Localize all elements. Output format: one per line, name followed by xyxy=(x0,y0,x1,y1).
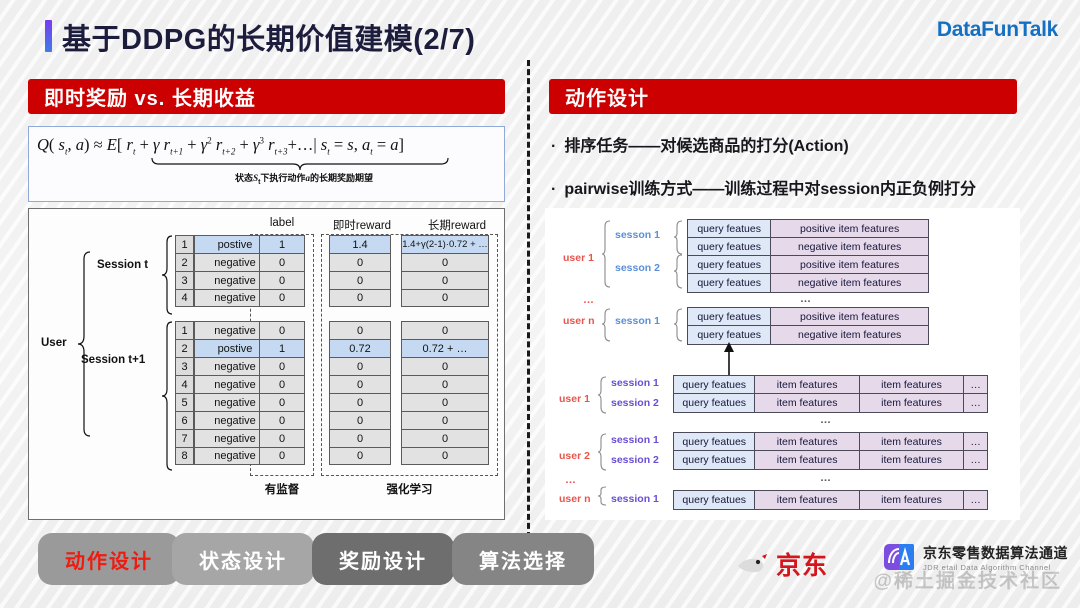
long-reward-value: 0 xyxy=(401,271,489,289)
item-feature-cell: positive item features xyxy=(771,220,928,238)
table-row: query featues item features item feature… xyxy=(674,433,987,451)
session-t-label: Session t xyxy=(97,259,148,271)
table-row: query featues item features item feature… xyxy=(674,451,987,469)
item-feature-cell: negative item features xyxy=(771,238,928,256)
user-label: User xyxy=(41,337,67,349)
item-feature-cell: item features xyxy=(755,433,859,451)
long-reward-value: 0 xyxy=(401,357,489,375)
pairwise-session-1-brace xyxy=(673,220,683,255)
session-user-1-label: user 1 xyxy=(559,393,590,405)
row-index: 4 xyxy=(175,375,194,393)
jd-logo-text: 京东 xyxy=(776,546,828,582)
reward-value: 0 xyxy=(329,357,391,375)
long-reward-value: 0 xyxy=(401,447,489,465)
slide-header: 基于DDPG的长期价值建模(2/7) DataFunTalk xyxy=(0,0,1080,62)
item-feature-cell: item features xyxy=(755,376,859,394)
reward-value: 0 xyxy=(329,289,391,307)
watermark: @稀土掘金技术社区 xyxy=(873,566,1062,593)
pairwise-user-1-label: user 1 xyxy=(563,252,594,264)
session-t1-long-reward-column: 0 0.72 + … 0 0 0 0 0 0 xyxy=(401,321,489,465)
row-index: 1 xyxy=(175,235,194,253)
label-value: 0 xyxy=(259,411,305,429)
session-label: session 2 xyxy=(611,397,659,409)
reward-value: 0 xyxy=(329,271,391,289)
session-label: session 1 xyxy=(611,493,659,505)
table-row: query featues positive item features xyxy=(688,308,928,326)
row-index: 8 xyxy=(175,447,194,465)
query-feature-cell: query featues xyxy=(688,308,771,326)
footer-reinforcement: 强化学习 xyxy=(321,481,498,497)
session-user-1-brace xyxy=(597,376,607,414)
item-feature-cell: item features xyxy=(755,451,859,469)
label-value: 1 xyxy=(259,235,305,253)
pairwise-user-n-brace xyxy=(601,308,611,342)
long-reward-value: 0 xyxy=(401,253,489,271)
formula-underbrace xyxy=(151,157,449,171)
row-index: 6 xyxy=(175,411,194,429)
reward-value: 0 xyxy=(329,429,391,447)
pairwise-user-n-session-label: sesson 1 xyxy=(615,315,660,327)
tab-algorithm-choice[interactable]: 算法选择 xyxy=(452,533,594,585)
session-user-n-brace xyxy=(597,486,607,506)
bullet-dot-icon: · xyxy=(551,181,556,198)
item-feature-cell: item features xyxy=(860,376,964,394)
item-feature-cell: negative item features xyxy=(771,274,928,292)
query-feature-cell: query featues xyxy=(674,451,755,469)
table-row: query featues item features item feature… xyxy=(674,376,987,394)
query-feature-cell: query featues xyxy=(688,274,771,292)
panel-divider xyxy=(527,60,530,538)
row-index: 5 xyxy=(175,393,194,411)
pairwise-session-1-label: sesson 1 xyxy=(615,229,660,241)
table-row: query featues negative item features xyxy=(688,238,928,256)
label-value: 0 xyxy=(259,393,305,411)
item-feature-cell: item features xyxy=(860,433,964,451)
session-t-brace xyxy=(161,235,173,315)
query-feature-cell: query featues xyxy=(688,256,771,274)
session-user-2-label: user 2 xyxy=(559,450,590,462)
item-feature-cell: item features xyxy=(860,451,964,469)
session-t1-label: Session t+1 xyxy=(81,354,145,366)
query-feature-cell: query featues xyxy=(674,433,755,451)
user-brace xyxy=(77,251,91,437)
tab-action-design[interactable]: 动作设计 xyxy=(38,533,180,585)
connector-arrow-icon xyxy=(722,342,736,378)
session-t1-immediate-reward-column: 0 0.72 0 0 0 0 0 0 xyxy=(329,321,391,465)
table-row: query featues positive item features xyxy=(688,220,928,238)
q-value-formula: Q( st, a) ≈ E[ rt + γ rt+1 + γ2 rt+2 + γ… xyxy=(37,135,498,156)
page-title: 基于DDPG的长期价值建模(2/7) xyxy=(62,16,475,58)
session-table-user-1: query featues item features item feature… xyxy=(673,375,988,413)
query-feature-cell: query featues xyxy=(688,238,771,256)
session-label: session 1 xyxy=(611,434,659,446)
item-feature-cell: positive item features xyxy=(771,308,928,326)
session-table-user-2: query featues item features item feature… xyxy=(673,432,988,470)
query-feature-cell: query featues xyxy=(674,491,755,509)
item-feature-cell: positive item features xyxy=(771,256,928,274)
session-t1-label-value-column: 0 1 0 0 0 0 0 0 xyxy=(259,321,305,465)
session-t-long-reward-column: 1.4+γ(2-1)·0.72 + … 0 0 0 xyxy=(401,235,489,307)
row-index: 3 xyxy=(175,271,194,289)
pairwise-session-2-brace xyxy=(673,254,683,289)
label-value: 0 xyxy=(259,447,305,465)
right-section-header: 动作设计 xyxy=(549,79,1017,114)
pairwise-table-user-n: query featues positive item features que… xyxy=(687,307,929,345)
pairwise-user-n-label: user n xyxy=(563,315,595,327)
item-feature-cell: item features xyxy=(860,394,964,412)
label-value: 0 xyxy=(259,357,305,375)
row-index: 4 xyxy=(175,289,194,307)
reward-value: 0.72 xyxy=(329,339,391,357)
row-index: 2 xyxy=(175,339,194,357)
footer-supervised: 有监督 xyxy=(250,481,314,497)
column-header-long-reward: 长期reward xyxy=(407,217,507,233)
pairwise-user-ellipsis: … xyxy=(583,294,595,306)
session-diagram-ellipsis-1: … xyxy=(820,414,832,426)
item-feature-cell: item features xyxy=(755,394,859,412)
label-value: 0 xyxy=(259,253,305,271)
session-t-immediate-reward-column: 1.4 0 0 0 xyxy=(329,235,391,307)
table-row: query featues item features item feature… xyxy=(674,394,987,412)
label-value: 0 xyxy=(259,321,305,339)
bullet-dot-icon: · xyxy=(551,138,556,155)
long-reward-value: 0 xyxy=(401,429,489,447)
bullet-item-1: ·排序任务——对候选商品的打分(Action) xyxy=(551,132,849,156)
bullet-text: 排序任务——对候选商品的打分(Action) xyxy=(564,138,848,155)
label-value: 1 xyxy=(259,339,305,357)
jd-dog-icon xyxy=(736,551,770,577)
label-value: 0 xyxy=(259,429,305,447)
query-feature-cell: query featues xyxy=(674,394,755,412)
session-table-user-n: query featues item features item feature… xyxy=(673,490,988,510)
item-feature-cell: item features xyxy=(755,491,859,509)
right-diagram-panel: user 1 sesson 1 sesson 2 query featues p… xyxy=(545,208,1020,520)
bullet-item-2: ·pairwise训练方式——训练过程中对session内正负例打分 xyxy=(551,175,976,199)
long-reward-value: 0.72 + … xyxy=(401,339,489,357)
column-header-label: label xyxy=(247,217,317,229)
table-row: query featues negative item features xyxy=(688,274,928,292)
reward-value: 0 xyxy=(329,253,391,271)
pairwise-table-ellipsis: … xyxy=(800,293,812,305)
reward-value: 0 xyxy=(329,411,391,429)
pairwise-user-1-brace xyxy=(601,220,611,288)
session-label: session 2 xyxy=(611,454,659,466)
session-t1-brace xyxy=(161,321,173,471)
long-reward-value: 1.4+γ(2-1)·0.72 + … xyxy=(401,235,489,253)
tab-state-design[interactable]: 状态设计 xyxy=(172,533,314,585)
label-value: 0 xyxy=(259,271,305,289)
session-user-n-label: user n xyxy=(559,493,591,505)
item-feature-ellipsis-cell: … xyxy=(964,394,987,412)
long-reward-value: 0 xyxy=(401,375,489,393)
pairwise-session-2-label: sesson 2 xyxy=(615,262,660,274)
tab-reward-design[interactable]: 奖励设计 xyxy=(312,533,454,585)
long-reward-value: 0 xyxy=(401,411,489,429)
session-user-2-brace xyxy=(597,433,607,471)
pairwise-table-user-1: query featues positive item features que… xyxy=(687,219,929,293)
bullet-text: pairwise训练方式——训练过程中对session内正负例打分 xyxy=(564,181,976,198)
reward-table-panel: label 即时reward 长期reward 有监督 强化学习 User Se… xyxy=(28,208,505,520)
jd-logo: 京东 xyxy=(736,546,828,582)
formula-annotation: 状态St下执行动作a的长期奖励期望 xyxy=(169,171,439,186)
reward-value: 0 xyxy=(329,447,391,465)
long-reward-value: 0 xyxy=(401,393,489,411)
row-index: 1 xyxy=(175,321,194,339)
table-row: query featues positive item features xyxy=(688,256,928,274)
left-section-header: 即时奖励 vs. 长期收益 xyxy=(28,79,505,114)
q-value-formula-box: Q( st, a) ≈ E[ rt + γ rt+1 + γ2 rt+2 + γ… xyxy=(28,126,505,202)
title-accent-bar xyxy=(45,20,52,52)
session-user-ellipsis: … xyxy=(565,474,577,486)
long-reward-value: 0 xyxy=(401,289,489,307)
reward-value: 0 xyxy=(329,393,391,411)
item-feature-ellipsis-cell: … xyxy=(964,451,987,469)
session-diagram-ellipsis-2: … xyxy=(820,472,832,484)
query-feature-cell: query featues xyxy=(674,376,755,394)
label-value: 0 xyxy=(259,375,305,393)
column-header-immediate-reward: 即时reward xyxy=(317,217,407,233)
item-feature-ellipsis-cell: … xyxy=(964,433,987,451)
session-t-label-value-column: 1 0 0 0 xyxy=(259,235,305,307)
item-feature-ellipsis-cell: … xyxy=(964,491,987,509)
item-feature-ellipsis-cell: … xyxy=(964,376,987,394)
label-value: 0 xyxy=(259,289,305,307)
pairwise-user-n-session-brace xyxy=(673,308,683,342)
item-feature-cell: item features xyxy=(860,491,964,509)
row-index: 2 xyxy=(175,253,194,271)
table-row: query featues item features item feature… xyxy=(674,491,987,509)
query-feature-cell: query featues xyxy=(688,220,771,238)
session-label: session 1 xyxy=(611,377,659,389)
reward-value: 0 xyxy=(329,321,391,339)
item-feature-cell: negative item features xyxy=(771,326,928,344)
datafuntalk-logo: DataFunTalk xyxy=(937,18,1058,42)
row-index: 7 xyxy=(175,429,194,447)
long-reward-value: 0 xyxy=(401,321,489,339)
reward-value: 0 xyxy=(329,375,391,393)
channel-name: 京东零售数据算法通道 xyxy=(923,543,1068,563)
reward-value: 1.4 xyxy=(329,235,391,253)
row-index: 3 xyxy=(175,357,194,375)
